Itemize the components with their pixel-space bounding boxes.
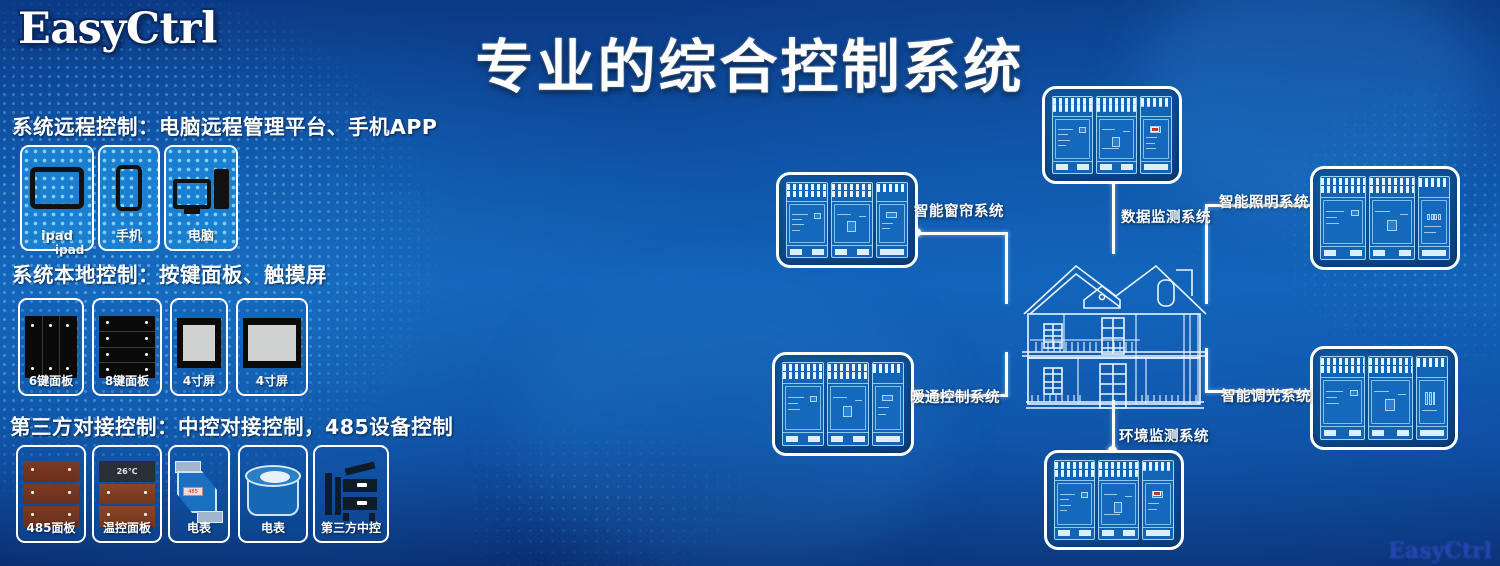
tablet-icon <box>30 167 84 209</box>
thermostat-display-value: 26℃ <box>99 461 155 482</box>
six-key-panel-icon <box>25 316 77 378</box>
house-illustration <box>1016 252 1212 412</box>
section-title-third-party: 第三方对接控制：中控对接控制，485设备控制 <box>10 410 453 440</box>
round-meter-icon <box>245 465 301 521</box>
desktop-computer-icon <box>173 169 229 209</box>
watermark: EasyCtrl <box>1388 538 1492 564</box>
device-card-label: 电表 <box>240 519 306 536</box>
device-card-round-meter[interactable]: 电表 <box>238 445 308 543</box>
module-dimming-control[interactable] <box>1310 346 1458 450</box>
third-party-controller-icon <box>323 461 379 523</box>
device-card-label: 8键面板 <box>94 372 160 389</box>
device-card-label: 电表 <box>170 519 228 536</box>
poster-canvas: EasyCtrl 专业的综合控制系统 系统远程控制：电脑远程管理平台、手机APP… <box>0 0 1500 566</box>
eight-key-panel-icon <box>99 316 155 378</box>
device-card-label: 4寸屏 <box>238 372 306 389</box>
device-card-label: 电脑 <box>166 225 236 244</box>
device-card-label: ipad <box>22 229 92 244</box>
device-card-label: 4寸屏 <box>172 372 226 389</box>
diagram-label-data-monitoring: 数据监测系统 <box>1121 206 1211 227</box>
link-hvac-v <box>1005 352 1008 396</box>
four-inch-screen-icon <box>177 318 221 368</box>
diagram-label-dimming: 智能调光系统 <box>1221 385 1311 406</box>
device-card-4inch-screen[interactable]: 4寸屏 <box>170 298 228 396</box>
link-curtain-h <box>916 232 1008 235</box>
device-card-label: 手机 <box>100 225 158 244</box>
brand-logo: EasyCtrl <box>18 4 217 54</box>
four-inch-screen-wide-icon <box>243 318 301 368</box>
module-hvac-control[interactable] <box>772 352 914 456</box>
device-card-label: 第三方中控 <box>315 519 387 536</box>
link-data-monitoring <box>1112 178 1115 254</box>
device-card-ipad[interactable]: ipad <box>20 145 94 251</box>
device-card-thermostat-panel[interactable]: 26℃ 温控面板 <box>92 445 162 543</box>
device-card-6key-panel[interactable]: 6键面板 <box>18 298 84 396</box>
module-data-monitoring[interactable] <box>1042 86 1182 184</box>
rs485-panel-icon <box>23 461 79 527</box>
diagram-label-environment: 环境监测系统 <box>1119 425 1209 446</box>
thermostat-panel-icon: 26℃ <box>99 461 155 527</box>
device-card-computer[interactable]: 电脑 <box>164 145 238 251</box>
diagram-label-curtain: 智能窗帘系统 <box>914 200 1004 221</box>
device-card-label: 6键面板 <box>20 372 82 389</box>
section-title-remote-control: 系统远程控制：电脑远程管理平台、手机APP <box>12 110 437 140</box>
device-card-485-panel[interactable]: 485面板 <box>16 445 86 543</box>
module-curtain-control[interactable] <box>776 172 918 268</box>
device-card-label: 485面板 <box>18 519 84 536</box>
ipad-extra-label: ipad <box>55 243 84 257</box>
device-card-phone[interactable]: 手机 <box>98 145 160 251</box>
link-curtain-v <box>1005 232 1008 304</box>
diagram-label-hvac: 暖通控制系统 <box>910 386 1000 407</box>
device-card-energy-meter[interactable]: 485 电表 <box>168 445 230 543</box>
diagram-label-lighting: 智能照明系统 <box>1219 191 1309 212</box>
device-card-8key-panel[interactable]: 8键面板 <box>92 298 162 396</box>
smartphone-icon <box>116 165 142 211</box>
device-card-third-party-controller[interactable]: 第三方中控 <box>313 445 389 543</box>
energy-meter-icon: 485 <box>173 461 225 523</box>
page-title: 专业的综合控制系统 <box>470 20 1030 104</box>
module-lighting-control[interactable] <box>1310 166 1460 270</box>
section-title-local-control: 系统本地控制：按键面板、触摸屏 <box>12 258 327 288</box>
device-card-4inch-screen-wide[interactable]: 4寸屏 <box>236 298 308 396</box>
device-card-label: 温控面板 <box>94 519 160 536</box>
module-environment-monitoring[interactable] <box>1044 450 1184 550</box>
